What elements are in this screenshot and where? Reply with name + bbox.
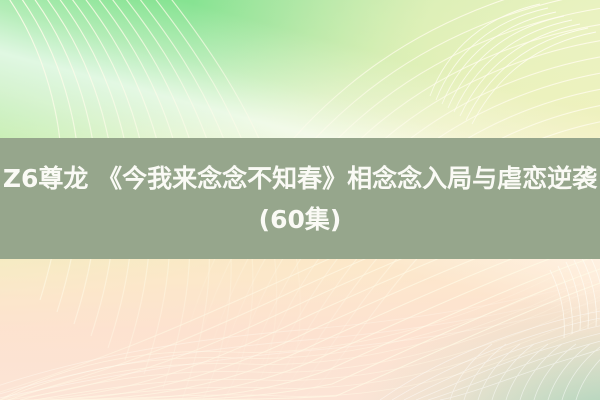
banner-image: Z6尊龙 《今我来念念不知春》相念念入局与虐恋逆袭(60集) [0,0,600,400]
page-title: Z6尊龙 《今我来念念不知春》相念念入局与虐恋逆袭(60集) [0,158,600,240]
title-overlay-band: Z6尊龙 《今我来念念不知春》相念念入局与虐恋逆袭(60集) [0,138,600,259]
